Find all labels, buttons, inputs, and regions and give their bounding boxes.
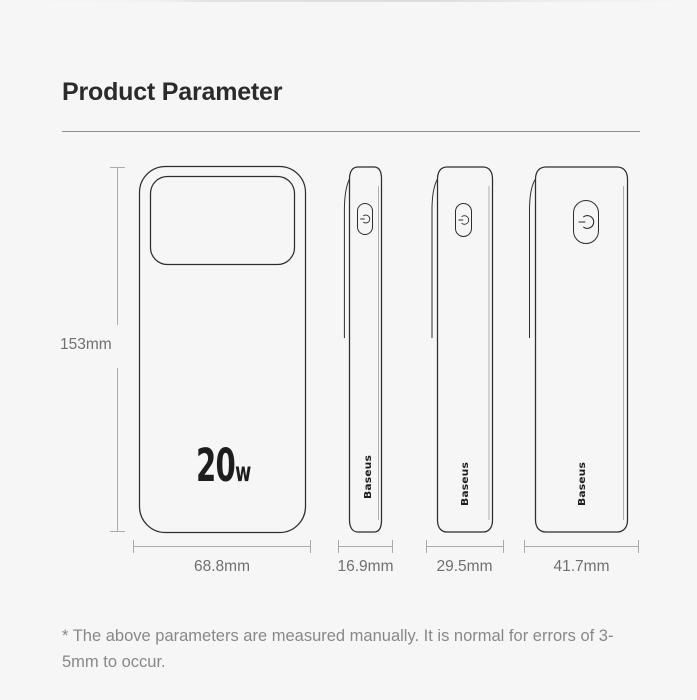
dimension-line-width-wide [524,540,639,553]
wattage-number: 20 [196,439,235,492]
dimension-line-width-front [133,540,311,553]
wattage-logo: 20w [196,443,251,488]
dimension-line-width-medium [426,540,504,553]
power-icon-medium [459,216,469,225]
dimension-line-height [110,167,125,532]
power-button-thin [358,204,373,235]
front-view-display-panel [151,177,295,265]
dimension-label-height: 153mm [60,336,112,354]
brand-label-medium: Baseus [460,454,471,514]
dimension-label-width-front: 68.8mm [133,558,311,576]
dimension-line-width-thin [338,540,393,553]
dimension-label-width-medium: 29.5mm [425,558,504,576]
dimension-label-width-thin: 16.9mm [326,558,405,576]
brand-label-wide: Baseus [577,454,588,514]
side-view-medium-bevel-left [432,179,438,338]
measurement-disclaimer: * The above parameters are measured manu… [62,624,632,675]
side-view-thin-bevel-left [344,179,349,338]
brand-label-thin: Baseus [363,447,374,507]
power-button-wide [574,201,599,244]
power-icon-thin [361,215,370,223]
power-icon-wide [579,216,594,229]
dimension-label-width-wide: 41.7mm [542,558,621,576]
wattage-unit: w [235,457,250,488]
product-parameter-page: Product Parameter [0,0,697,700]
side-view-wide-bevel-left [530,179,536,338]
